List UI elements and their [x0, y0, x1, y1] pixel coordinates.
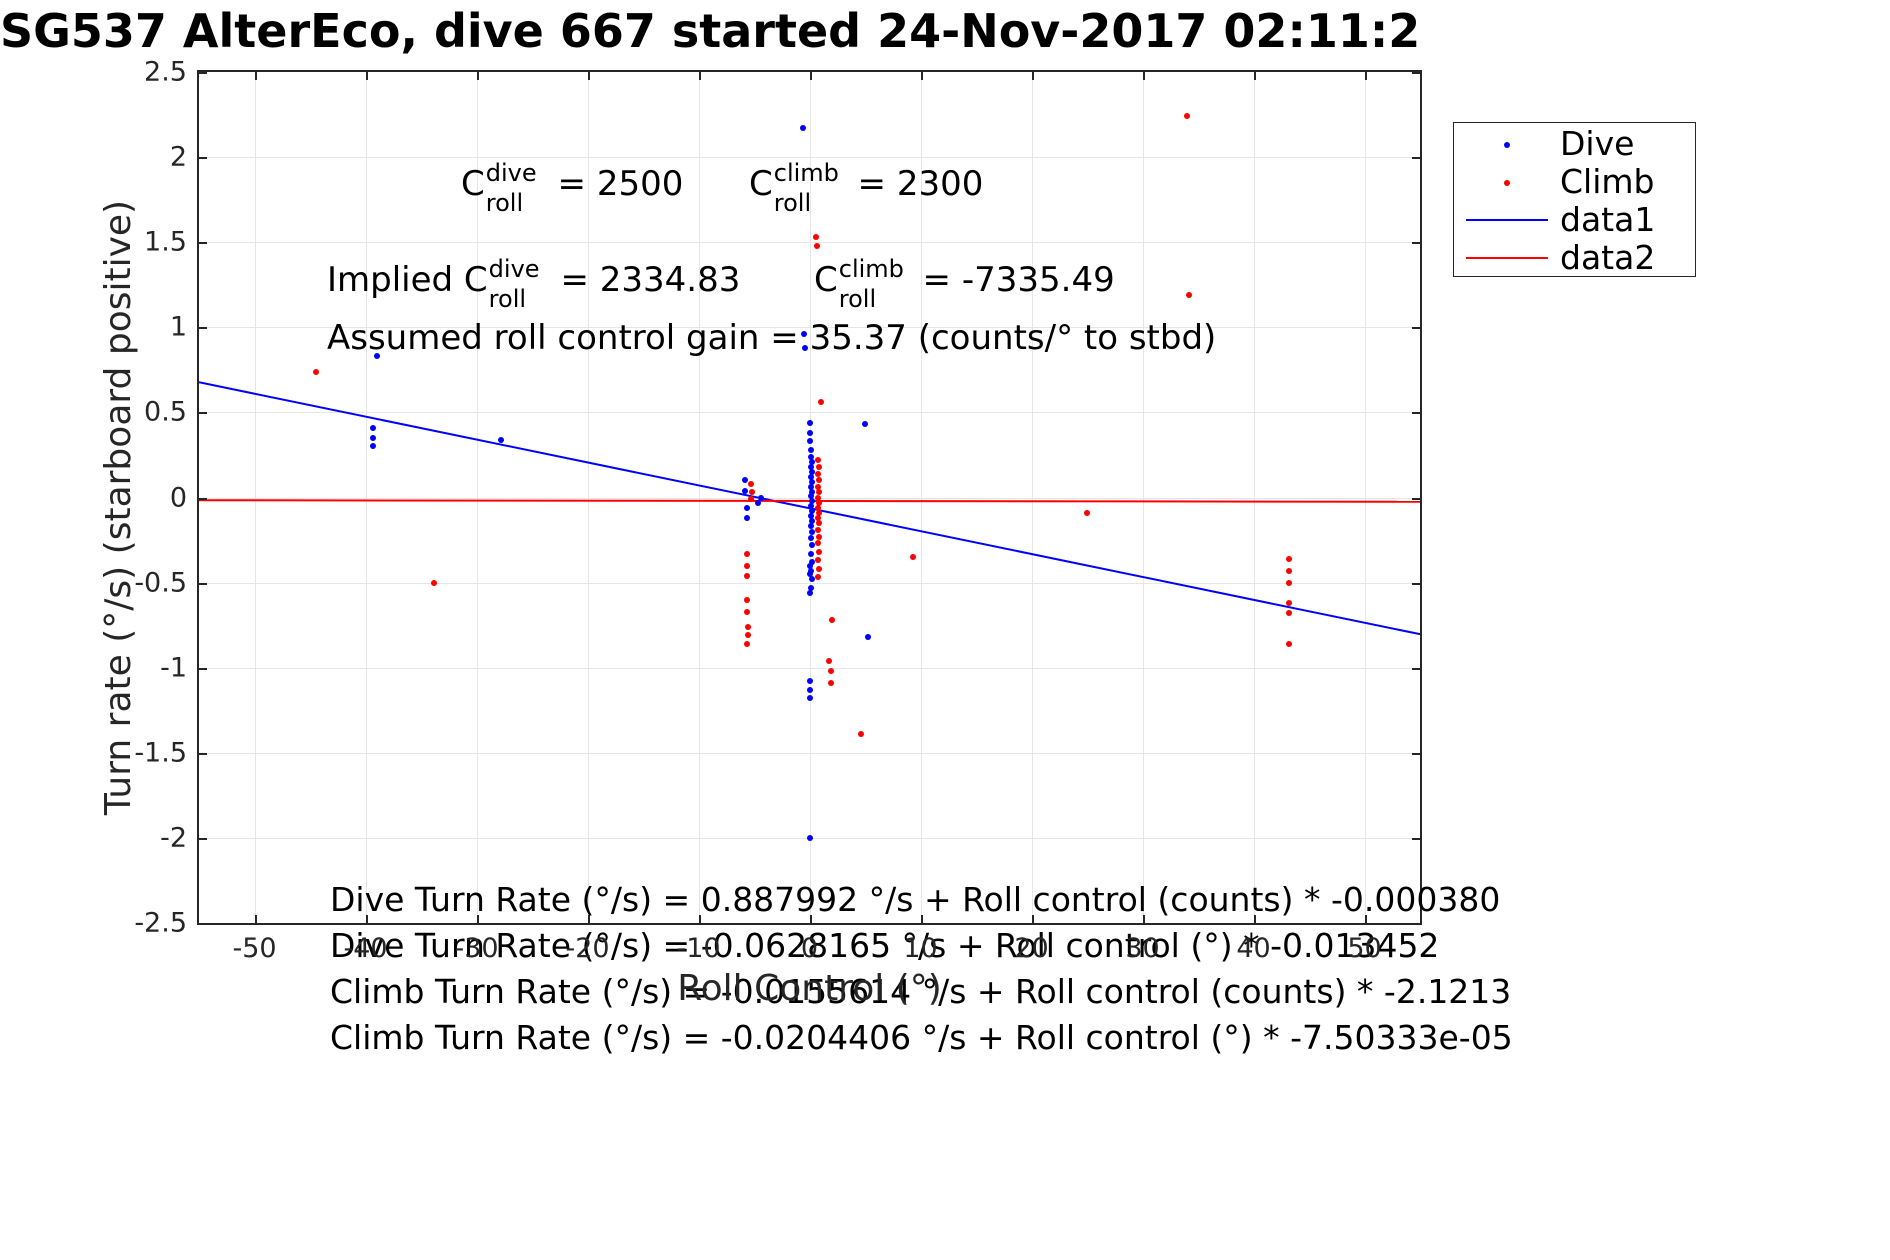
data-point-climb	[828, 680, 834, 686]
c-roll-dive-superscript: dive	[486, 159, 537, 187]
y-tick-mark-right	[1412, 668, 1420, 670]
data-point-climb	[744, 563, 750, 569]
plot-axes: Cdiveroll = 2500 Cclimbroll = 2300 Impli…	[197, 70, 1422, 925]
equation-line: Dive Turn Rate (°/s) = 0.887992 °/s + Ro…	[330, 880, 1500, 919]
data-point-climb	[1286, 641, 1292, 647]
y-tick-mark	[199, 838, 207, 840]
legend-marker-dot-icon	[1504, 180, 1510, 186]
page-title: SG537 AlterEco, dive 667 started 24-Nov-…	[0, 2, 1890, 60]
legend-label: data2	[1560, 239, 1655, 277]
legend-label: data1	[1560, 201, 1655, 239]
annotation-c-roll-climb: Cclimbroll = 2300	[749, 164, 983, 204]
annotation-implied-climb: Cclimbroll = -7335.49	[814, 260, 1115, 300]
data-point-dive	[807, 430, 813, 436]
y-tick-mark	[199, 72, 207, 74]
data-point-climb	[744, 597, 750, 603]
equation-line: Climb Turn Rate (°/s) = -0.0204406 °/s +…	[330, 1018, 1513, 1057]
legend-item-climb[interactable]: Climb	[1454, 163, 1695, 201]
x-tick-label: 0	[801, 933, 818, 964]
data-point-dive	[808, 447, 814, 453]
data-point-climb	[818, 399, 824, 405]
y-tick-mark	[199, 157, 207, 159]
c-roll-climb-symbol: C	[749, 164, 773, 204]
annotation-implied-dive: Implied Cdiveroll = 2334.83	[327, 260, 740, 300]
c-roll-dive-symbol: C	[461, 164, 485, 204]
x-tick-mark-top	[255, 72, 257, 80]
x-tick-label: 40	[1236, 933, 1270, 964]
x-tick-label: 20	[1014, 933, 1048, 964]
data-point-dive	[807, 571, 813, 577]
legend-marker-dot-icon	[1504, 142, 1510, 148]
x-tick-label: -40	[343, 933, 387, 964]
data-point-climb	[1286, 556, 1292, 562]
data-point-climb	[313, 369, 319, 375]
data-point-climb	[858, 731, 864, 737]
data-point-dive	[370, 425, 376, 431]
data-point-dive	[807, 695, 813, 701]
x-tick-mark-top	[921, 72, 923, 80]
y-tick-mark-right	[1412, 72, 1420, 74]
data-point-climb	[1084, 510, 1090, 516]
x-tick-mark-top	[1143, 72, 1145, 80]
data-point-climb	[748, 481, 754, 487]
data-point-climb	[744, 551, 750, 557]
implied-climb-symbol: C	[814, 260, 838, 300]
x-tick-label: -20	[565, 933, 609, 964]
y-axis-label: Turn rate (°/s) (starboard positive)	[98, 80, 139, 935]
data-point-dive	[808, 535, 814, 541]
y-tick-mark	[199, 668, 207, 670]
y-tick-mark-right	[1412, 242, 1420, 244]
annotation-c-roll-dive: Cdiveroll = 2500	[461, 164, 683, 204]
y-tick-mark-right	[1412, 753, 1420, 755]
data-point-dive	[800, 125, 806, 131]
x-tick-mark	[255, 915, 257, 923]
data-point-dive	[808, 551, 814, 557]
data-point-dive	[807, 835, 813, 841]
data-point-climb	[1286, 568, 1292, 574]
x-tick-label: -10	[676, 933, 720, 964]
annotation-roll-control-gain: Assumed roll control gain = 35.37 (count…	[327, 318, 1216, 358]
figure-canvas: SG537 AlterEco, dive 667 started 24-Nov-…	[0, 0, 1890, 1260]
data-point-dive	[758, 495, 764, 501]
data-point-dive	[498, 437, 504, 443]
x-tick-mark-top	[477, 72, 479, 80]
data-point-climb	[1286, 600, 1292, 606]
implied-dive-superscript: dive	[489, 255, 540, 283]
data-point-climb	[431, 580, 437, 586]
implied-climb-subscript: roll	[839, 285, 876, 313]
x-tick-mark-top	[810, 72, 812, 80]
x-tick-label: -30	[454, 933, 498, 964]
c-roll-climb-value: = 2300	[847, 164, 984, 204]
y-tick-mark	[199, 583, 207, 585]
x-tick-label: -50	[232, 933, 276, 964]
data-point-dive	[807, 420, 813, 426]
legend-box: DiveClimbdata1data2	[1453, 122, 1696, 277]
y-tick-mark-right	[1412, 838, 1420, 840]
data-point-dive	[742, 488, 748, 494]
x-tick-mark-top	[588, 72, 590, 80]
data-point-climb	[1286, 580, 1292, 586]
data-point-dive	[809, 542, 815, 548]
y-tick-mark-right	[1412, 327, 1420, 329]
y-tick-mark-right	[1412, 498, 1420, 500]
c-roll-dive-value: = 2500	[547, 164, 684, 204]
legend-label: Climb	[1560, 163, 1654, 201]
c-roll-climb-superscript: climb	[774, 159, 839, 187]
y-tick-mark-right	[1412, 157, 1420, 159]
legend-marker-line-icon	[1466, 257, 1548, 259]
legend-item-data2[interactable]: data2	[1454, 239, 1695, 277]
x-tick-mark-top	[699, 72, 701, 80]
data-point-dive	[807, 590, 813, 596]
legend-marker-line-icon	[1466, 219, 1548, 221]
x-axis-label: Roll Control (°)	[197, 968, 1422, 1009]
y-tick-mark	[199, 327, 207, 329]
x-tick-mark-top	[1254, 72, 1256, 80]
x-tick-mark-top	[1032, 72, 1034, 80]
x-tick-label: 30	[1125, 933, 1159, 964]
x-tick-mark-top	[1365, 72, 1367, 80]
data-point-climb	[744, 609, 750, 615]
data-point-dive	[807, 563, 813, 569]
implied-climb-superscript: climb	[839, 255, 904, 283]
data-point-climb	[828, 668, 834, 674]
legend-item-data1[interactable]: data1	[1454, 201, 1695, 239]
implied-dive-value: = 2334.83	[550, 260, 741, 300]
c-roll-climb-subscript: roll	[774, 189, 811, 217]
implied-dive-subscript: roll	[489, 285, 526, 313]
y-tick-mark	[199, 753, 207, 755]
data-point-dive	[809, 529, 815, 535]
y-tick-mark	[199, 242, 207, 244]
y-tick-mark-right	[1412, 583, 1420, 585]
x-tick-label: 50	[1347, 933, 1381, 964]
plot-clip: Cdiveroll = 2500 Cclimbroll = 2300 Impli…	[199, 72, 1420, 923]
y-tick-mark	[199, 498, 207, 500]
legend-item-dive[interactable]: Dive	[1454, 125, 1695, 163]
data-point-dive	[807, 438, 813, 444]
implied-dive-prefix: Implied C	[327, 260, 488, 300]
data-point-climb	[814, 243, 820, 249]
implied-climb-value: = -7335.49	[912, 260, 1115, 300]
data-point-climb	[829, 617, 835, 623]
data-point-climb	[748, 496, 754, 502]
c-roll-dive-subscript: roll	[486, 189, 523, 217]
x-tick-label: 10	[903, 933, 937, 964]
data-point-dive	[809, 576, 815, 582]
legend-label: Dive	[1560, 125, 1634, 163]
y-tick-mark-right	[1412, 412, 1420, 414]
data-point-dive	[807, 678, 813, 684]
data-point-dive	[807, 687, 813, 693]
x-tick-mark-top	[366, 72, 368, 80]
data-point-climb	[910, 554, 916, 560]
y-tick-mark	[199, 412, 207, 414]
